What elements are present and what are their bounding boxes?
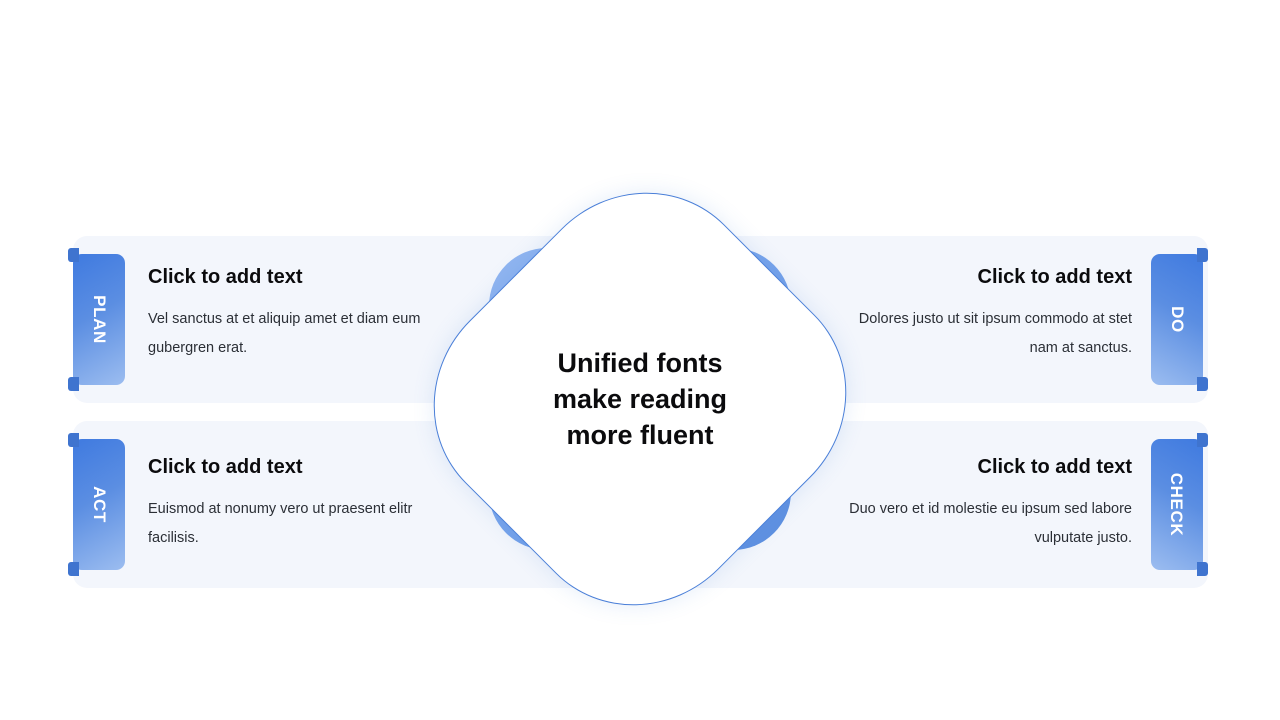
tab-nub-bottom	[68, 377, 79, 391]
quadrant-body[interactable]: Vel sanctus at et aliquip amet et diam e…	[148, 305, 448, 363]
quadrant-body[interactable]: Euismod at nonumy vero ut praesent elitr…	[148, 495, 448, 553]
tab-label-do: DO	[1168, 306, 1185, 333]
slide-canvas: PLAN DO Click to add text Vel sanctus at…	[0, 0, 1280, 720]
quadrant-title[interactable]: Click to add text	[832, 265, 1132, 289]
tab-nub-bottom	[68, 562, 79, 576]
tab-label-check: CHECK	[1169, 473, 1186, 536]
quadrant-title[interactable]: Click to add text	[832, 455, 1132, 479]
tab-check[interactable]: CHECK	[1151, 439, 1203, 570]
tab-nub-top	[68, 433, 79, 447]
quadrant-plan[interactable]: Click to add text Vel sanctus at et aliq…	[148, 265, 448, 363]
center-headline[interactable]: Unified fonts make reading more fluent	[489, 248, 791, 550]
quadrant-title[interactable]: Click to add text	[148, 265, 448, 289]
quadrant-check[interactable]: Click to add text Duo vero et id molesti…	[832, 455, 1132, 553]
tab-do[interactable]: DO	[1151, 254, 1203, 385]
quadrant-body[interactable]: Duo vero et id molestie eu ipsum sed lab…	[832, 495, 1132, 553]
quadrant-body[interactable]: Dolores justo ut sit ipsum commodo at st…	[832, 305, 1132, 363]
tab-act[interactable]: ACT	[73, 439, 125, 570]
center-graphic[interactable]: Unified fonts make reading more fluent	[489, 248, 791, 550]
tab-plan[interactable]: PLAN	[73, 254, 125, 385]
tab-nub-top	[1197, 433, 1208, 447]
center-headline-text: Unified fonts make reading more fluent	[525, 345, 755, 453]
quadrant-title[interactable]: Click to add text	[148, 455, 448, 479]
quadrant-do[interactable]: Click to add text Dolores justo ut sit i…	[832, 265, 1132, 363]
tab-nub-bottom	[1197, 377, 1208, 391]
quadrant-act[interactable]: Click to add text Euismod at nonumy vero…	[148, 455, 448, 553]
tab-label-plan: PLAN	[91, 295, 108, 344]
tab-nub-bottom	[1197, 562, 1208, 576]
tab-label-act: ACT	[91, 486, 108, 523]
tab-nub-top	[68, 248, 79, 262]
tab-nub-top	[1197, 248, 1208, 262]
